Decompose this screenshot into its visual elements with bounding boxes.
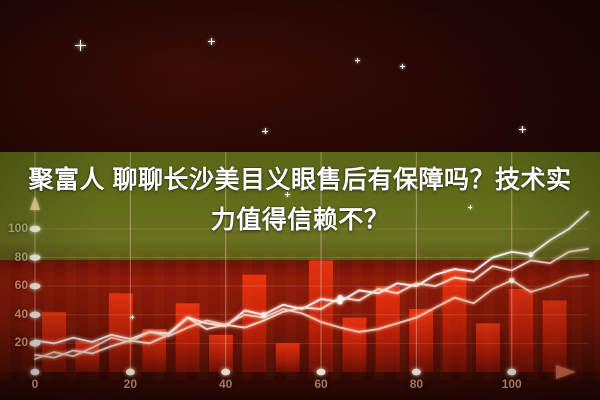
bar-series-group (42, 260, 566, 372)
chart-bar (476, 323, 500, 372)
data-point-marker (509, 278, 514, 283)
y-axis-tick-dot (30, 254, 41, 260)
x-axis-tick-dot (126, 369, 135, 376)
y-axis-tick-label: 40 (2, 307, 28, 321)
y-axis-tick-dot (30, 226, 41, 232)
x-droplines-group (35, 152, 512, 372)
x-axis-tick-label: 40 (211, 377, 241, 391)
x-axis-tick-label: 80 (401, 377, 431, 391)
chart-bar (176, 303, 200, 372)
chart-bar (543, 300, 567, 372)
x-axis-tick-label: 100 (497, 377, 527, 391)
x-axis-tick-label: 20 (115, 377, 145, 391)
chart-bar (276, 343, 300, 372)
chart-bar (443, 269, 467, 372)
infographic-chart-banner: 20406080100020406080100 聚富人 聊聊长沙美目义眼售后有保… (0, 0, 600, 400)
x-axis-tick-dot (412, 369, 421, 376)
chart-bar (109, 293, 133, 372)
y-axis-tick-label: 20 (2, 335, 28, 349)
y-axis-tick-dot (30, 312, 41, 318)
y-axis-tick-label: 80 (2, 250, 28, 264)
chart-bar (209, 335, 233, 372)
chart-bar (342, 318, 366, 372)
y-axis-tick-label: 100 (2, 221, 28, 235)
x-axis-tick-dot (317, 369, 326, 376)
data-point-marker (528, 252, 533, 257)
y-axis-tick-dot (30, 340, 41, 346)
y-axis-tick-label: 60 (2, 278, 28, 292)
y-axis-tick-dot (30, 283, 41, 289)
x-axis-tick-label: 0 (20, 377, 50, 391)
x-axis-tick-label: 60 (306, 377, 336, 391)
chart-canvas (0, 0, 600, 400)
x-axis-tick-dot (221, 369, 230, 376)
data-point-marker (338, 295, 343, 300)
chart-bar (509, 289, 533, 372)
x-axis-tick-dot (31, 369, 40, 376)
x-axis-tick-dot (507, 369, 516, 376)
data-point-marker (261, 312, 266, 317)
up-arrow-icon (30, 196, 40, 210)
